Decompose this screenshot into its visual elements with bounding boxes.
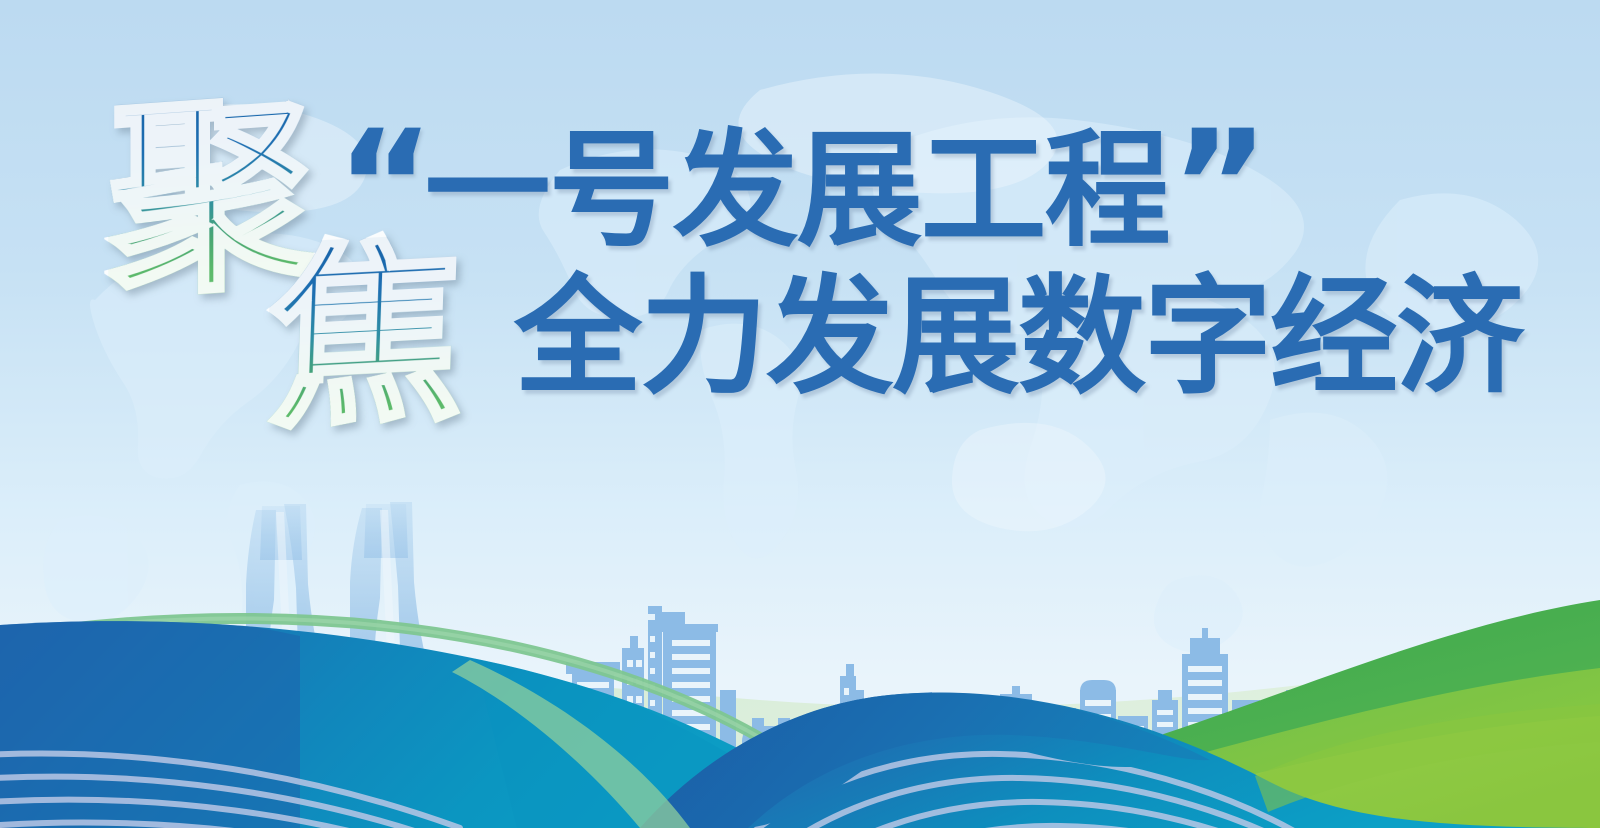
quote-close-icon: ”	[1171, 128, 1260, 245]
headline-line-2-row: 全力发展数字经济	[514, 274, 1516, 402]
headline-line-2: 全力发展数字经济	[514, 274, 1522, 402]
quote-open-icon: “	[336, 128, 425, 245]
headline-block: “ 一号发展工程 ” 全力发展数字经济	[336, 128, 1516, 402]
topic-banner: 聚 焦 “ 一号发展工程 ” 全力发展数字经济	[0, 0, 1600, 828]
headline-line-1: 一号发展工程	[425, 128, 1169, 254]
headline-line-1-row: “ 一号发展工程 ”	[336, 128, 1516, 254]
